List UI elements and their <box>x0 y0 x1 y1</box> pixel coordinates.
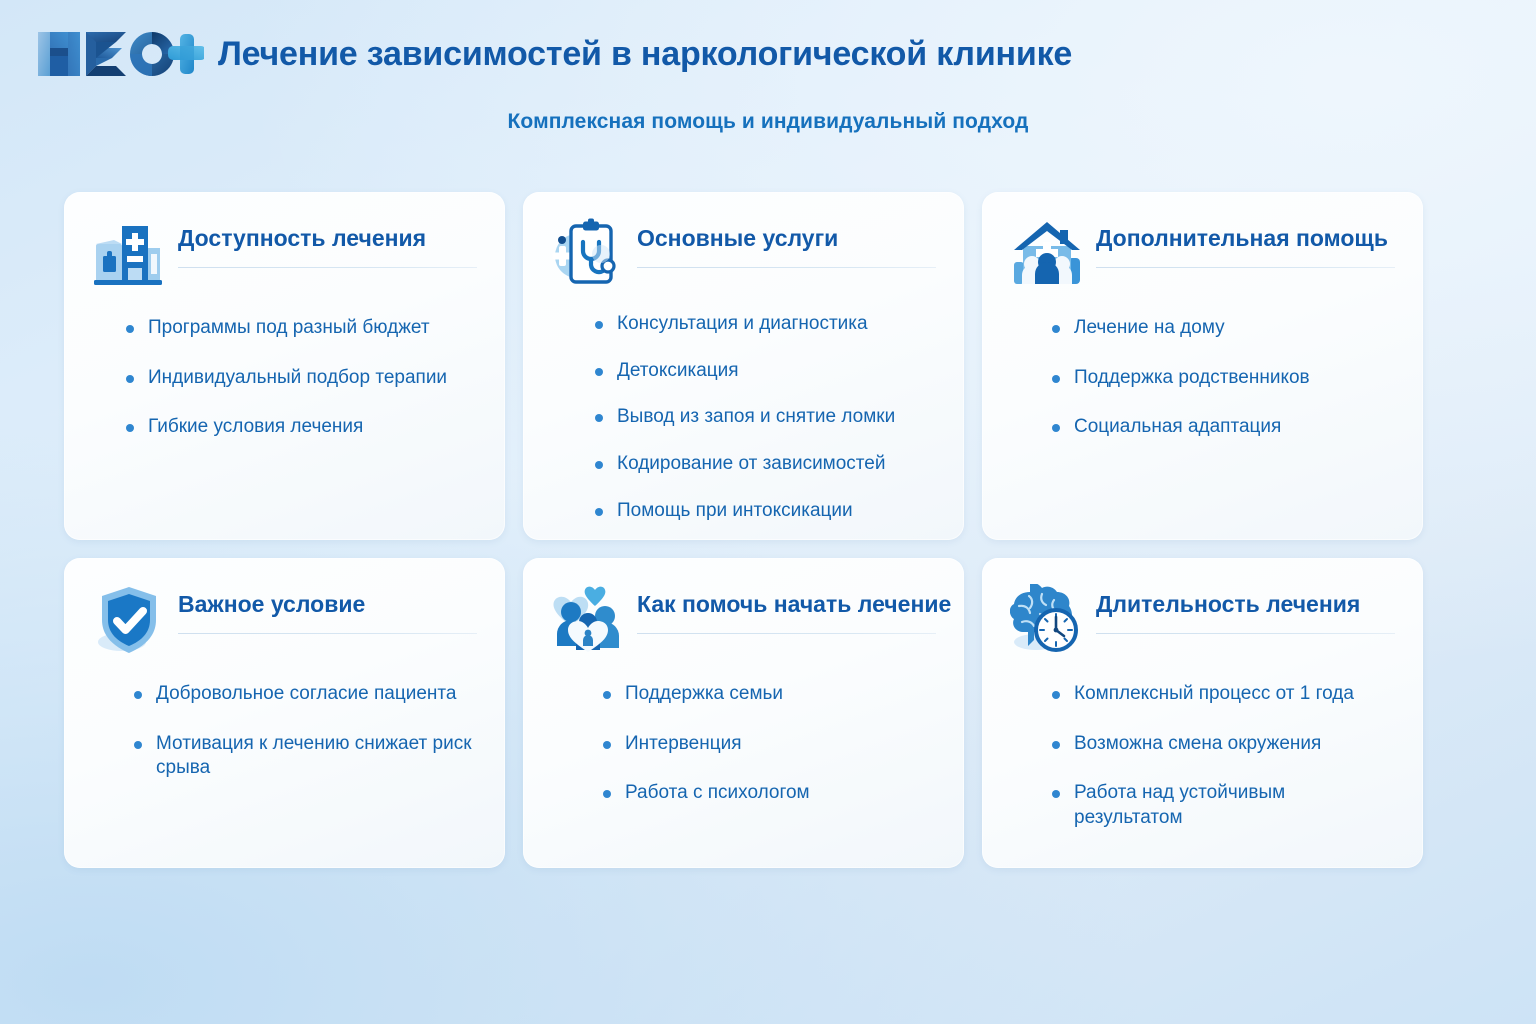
list-item: Гибкие условия лечения <box>126 415 477 440</box>
card-header: Как помочь начать лечение <box>551 584 936 656</box>
card-header: Дополнительная помощь <box>1010 218 1395 290</box>
card-title-column: Длительность лечения <box>1096 584 1395 634</box>
list-item-label: Мотивация к лечению снижает риск срыва <box>156 733 472 779</box>
card-title: Как помочь начать лечение <box>637 592 936 617</box>
list-item-label: Вывод из запоя и снятие ломки <box>617 406 895 427</box>
bullet-dot-icon <box>1052 691 1060 699</box>
card-header: Доступность лечения <box>92 218 477 290</box>
card-title-column: Дополнительная помощь <box>1096 218 1395 268</box>
bullet-dot-icon <box>1052 741 1060 749</box>
bullet-dot-icon <box>595 368 603 376</box>
bullet-dot-icon <box>603 741 611 749</box>
list-item-label: Комплексный процесс от 1 года <box>1074 683 1354 704</box>
list-item: Консультация и диагностика <box>595 312 936 337</box>
infographic-page: Лечение зависимостей в наркологической к… <box>0 0 1536 1024</box>
list-item: Кодирование от зависимостей <box>595 452 936 477</box>
card-divider <box>637 267 936 268</box>
card-title: Дополнительная помощь <box>1096 226 1395 251</box>
list-item-label: Гибкие условия лечения <box>148 416 363 437</box>
list-item-label: Помощь при интоксикации <box>617 500 853 521</box>
bullet-dot-icon <box>603 691 611 699</box>
bullet-dot-icon <box>603 790 611 798</box>
list-item: Работа над устойчивым результатом <box>1052 781 1395 830</box>
list-item-label: Возможна смена окружения <box>1074 733 1321 754</box>
page-subtitle-container: Комплексная помощь и индивидуальный подх… <box>0 110 1536 134</box>
list-item: Возможна смена окружения <box>1052 732 1395 757</box>
card-bullet-list: Консультация и диагностика Детоксикация … <box>551 290 936 523</box>
card-title-column: Важное условие <box>178 584 477 634</box>
list-item: Социальная адаптация <box>1052 415 1395 440</box>
card-title-column: Как помочь начать лечение <box>637 584 936 634</box>
card-bullet-list: Комплексный процесс от 1 года Возможна с… <box>1010 656 1395 831</box>
list-item: Программы под разный бюджет <box>126 316 477 341</box>
card-header: Основные услуги <box>551 218 936 290</box>
list-item: Помощь при интоксикации <box>595 499 936 524</box>
list-item-label: Добровольное согласие пациента <box>156 683 456 704</box>
card-kak-pomoch-nachat-lechenie[interactable]: Как помочь начать лечение Поддержка семь… <box>523 558 964 868</box>
card-divider <box>1096 633 1395 634</box>
bullet-dot-icon <box>134 691 142 699</box>
bullet-dot-icon <box>1052 790 1060 798</box>
bullet-dot-icon <box>134 741 142 749</box>
home-family-care-icon <box>1010 218 1084 290</box>
page-header: Лечение зависимостей в наркологической к… <box>0 0 1536 108</box>
list-item: Поддержка родственников <box>1052 366 1395 391</box>
list-item-label: Кодирование от зависимостей <box>617 453 885 474</box>
card-vazhnoe-uslovie[interactable]: Важное условие Добровольное согласие пац… <box>64 558 505 868</box>
brain-clock-icon <box>1010 584 1084 656</box>
card-title-column: Основные услуги <box>637 218 936 268</box>
neo-plus-logo-icon <box>34 26 204 82</box>
list-item: Лечение на дому <box>1052 316 1395 341</box>
card-title: Важное условие <box>178 592 477 617</box>
card-bullet-list: Добровольное согласие пациента Мотивация… <box>92 656 477 781</box>
list-item-label: Интервенция <box>625 733 742 754</box>
cards-grid: Доступность лечения Программы под разный… <box>64 192 1472 868</box>
card-dopolnitelnaya-pomoshch[interactable]: Дополнительная помощь Лечение на дому По… <box>982 192 1423 540</box>
list-item-label: Консультация и диагностика <box>617 313 868 334</box>
list-item-label: Индивидуальный подбор терапии <box>148 367 447 388</box>
bullet-dot-icon <box>126 424 134 432</box>
card-bullet-list: Поддержка семьи Интервенция Работа с пси… <box>551 656 936 806</box>
card-title: Доступность лечения <box>178 226 477 251</box>
list-item-label: Программы под разный бюджет <box>148 317 430 338</box>
list-item-label: Социальная адаптация <box>1074 416 1281 437</box>
clipboard-stethoscope-icon <box>551 218 625 290</box>
shield-check-icon <box>92 584 166 656</box>
card-divider <box>637 633 936 634</box>
card-divider <box>178 267 477 268</box>
card-header: Длительность лечения <box>1010 584 1395 656</box>
list-item: Поддержка семьи <box>603 682 936 707</box>
card-dostupnost-lecheniya[interactable]: Доступность лечения Программы под разный… <box>64 192 505 540</box>
list-item: Добровольное согласие пациента <box>134 682 477 707</box>
bullet-dot-icon <box>595 414 603 422</box>
card-osnovnye-uslugi[interactable]: Основные услуги Консультация и диагности… <box>523 192 964 540</box>
list-item: Детоксикация <box>595 359 936 384</box>
bullet-dot-icon <box>595 508 603 516</box>
list-item-label: Поддержка родственников <box>1074 367 1310 388</box>
card-title-column: Доступность лечения <box>178 218 477 268</box>
hospital-building-icon <box>92 218 166 290</box>
list-item-label: Работа над устойчивым результатом <box>1074 782 1285 828</box>
list-item: Интервенция <box>603 732 936 757</box>
bullet-dot-icon <box>595 461 603 469</box>
bullet-dot-icon <box>1052 325 1060 333</box>
bullet-dot-icon <box>126 325 134 333</box>
bullet-dot-icon <box>595 321 603 329</box>
card-title: Основные услуги <box>637 226 936 251</box>
card-dlitelnost-lecheniya[interactable]: Длительность лечения Комплексный процесс… <box>982 558 1423 868</box>
card-title: Длительность лечения <box>1096 592 1395 617</box>
card-bullet-list: Лечение на дому Поддержка родственников … <box>1010 290 1395 440</box>
list-item: Мотивация к лечению снижает риск срыва <box>134 732 477 781</box>
page-title: Лечение зависимостей в наркологической к… <box>218 35 1072 74</box>
card-divider <box>1096 267 1395 268</box>
list-item-label: Поддержка семьи <box>625 683 783 704</box>
bullet-dot-icon <box>1052 375 1060 383</box>
page-subtitle: Комплексная помощь и индивидуальный подх… <box>508 110 1029 134</box>
list-item-label: Лечение на дому <box>1074 317 1225 338</box>
bullet-dot-icon <box>1052 424 1060 432</box>
card-bullet-list: Программы под разный бюджет Индивидуальн… <box>92 290 477 440</box>
list-item: Индивидуальный подбор терапии <box>126 366 477 391</box>
list-item-label: Детоксикация <box>617 360 739 381</box>
card-divider <box>178 633 477 634</box>
card-header: Важное условие <box>92 584 477 656</box>
family-heart-icon <box>551 584 625 656</box>
list-item: Работа с психологом <box>603 781 936 806</box>
list-item-label: Работа с психологом <box>625 782 810 803</box>
bullet-dot-icon <box>126 375 134 383</box>
list-item: Комплексный процесс от 1 года <box>1052 682 1395 707</box>
list-item: Вывод из запоя и снятие ломки <box>595 405 936 430</box>
